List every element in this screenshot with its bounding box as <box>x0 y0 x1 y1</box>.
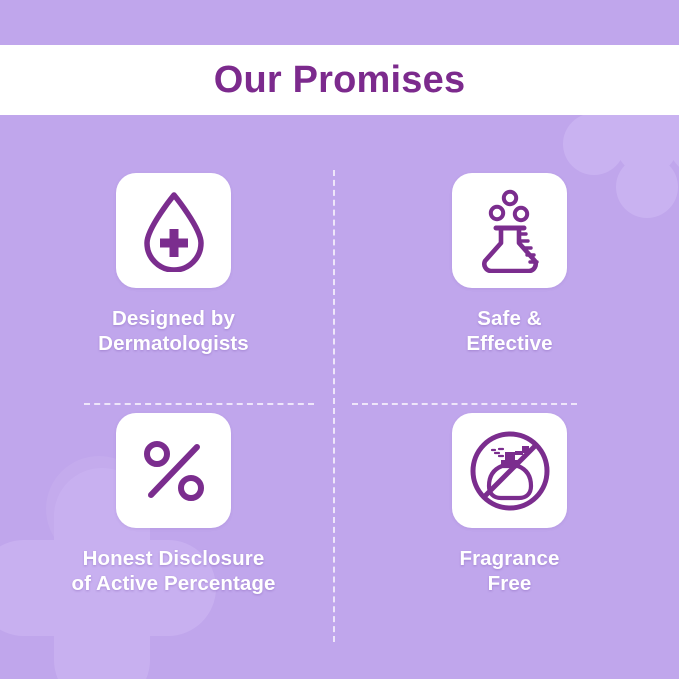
header-band: Our Promises <box>0 45 679 115</box>
page-title: Our Promises <box>214 61 466 99</box>
percent-icon <box>142 439 206 503</box>
promise-item-honest-disclosure: Honest Disclosure of Active Percentage <box>4 413 343 658</box>
promises-infographic: Our Promises Designed by Dermatologists <box>0 0 679 679</box>
no-fragrance-icon <box>469 430 551 512</box>
promise-label: Safe & Effective <box>466 306 552 356</box>
promise-item-safe-effective: Safe & Effective <box>340 173 679 418</box>
icon-card <box>116 413 231 528</box>
flask-bubbles-icon <box>473 189 547 273</box>
promise-label: Honest Disclosure of Active Percentage <box>71 546 275 596</box>
promise-label: Fragrance Free <box>459 546 559 596</box>
promise-item-fragrance-free: Fragrance Free <box>340 413 679 658</box>
droplet-plus-icon <box>137 190 211 272</box>
icon-card <box>116 173 231 288</box>
promise-item-designed-by-dermatologists: Designed by Dermatologists <box>4 173 343 418</box>
icon-card <box>452 413 567 528</box>
promise-label: Designed by Dermatologists <box>98 306 249 356</box>
promises-grid: Designed by Dermatologists <box>0 155 679 655</box>
icon-card <box>452 173 567 288</box>
